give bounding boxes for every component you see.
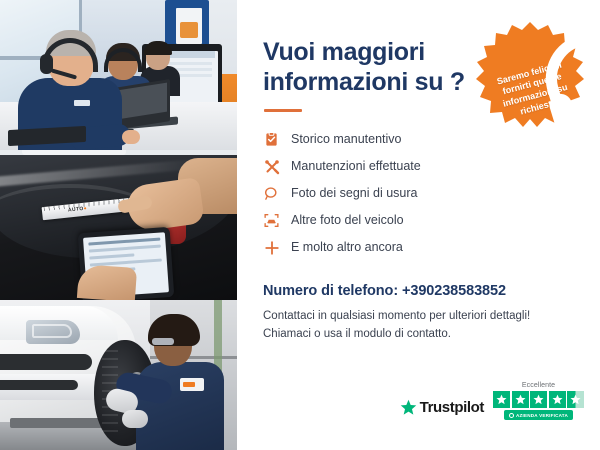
verified-badge: AZIENDA VERIFICATA bbox=[504, 410, 573, 420]
plus-icon bbox=[263, 239, 280, 256]
star-icon bbox=[549, 391, 566, 408]
feature-list: Storico manutentivo Manutenzioni effettu… bbox=[263, 126, 576, 261]
check-circle-icon bbox=[509, 413, 514, 418]
list-item-label: Storico manutentivo bbox=[291, 133, 401, 146]
verified-label: AZIENDA VERIFICATA bbox=[516, 413, 568, 418]
trustpilot-star-icon bbox=[400, 399, 417, 416]
list-item: Foto dei segni di usura bbox=[263, 180, 576, 207]
star-icon bbox=[512, 391, 529, 408]
list-item: Manutenzioni effettuate bbox=[263, 153, 576, 180]
phone-line: Numero di telefono: +390238583852 bbox=[263, 283, 576, 299]
list-item-label: E molto altro ancora bbox=[291, 241, 403, 254]
trustpilot-logo: Trustpilot bbox=[400, 399, 484, 420]
call-center-agents-photo bbox=[0, 0, 237, 150]
list-item: E molto altro ancora bbox=[263, 234, 576, 261]
trustpilot-wordmark: Trustpilot bbox=[420, 399, 484, 416]
tools-cross-icon bbox=[263, 158, 280, 175]
vehicle-bumper-inspection-photo: AUTO● bbox=[0, 150, 237, 300]
rating-label: Eccellente bbox=[522, 382, 555, 389]
phone-label: Numero di telefono: bbox=[263, 283, 402, 299]
contact-text: Contattaci in qualsiasi momento per ulte… bbox=[263, 308, 576, 344]
magnifier-icon bbox=[263, 185, 280, 202]
contact-line-2: Chiamaci o usa il modulo di contatto. bbox=[263, 326, 576, 344]
clipboard-check-icon bbox=[263, 131, 280, 148]
promo-banner: AUTO● bbox=[0, 0, 600, 450]
photo-collage: AUTO● bbox=[0, 0, 237, 450]
title-divider bbox=[264, 109, 302, 112]
mechanic-wheel-inspection-photo bbox=[0, 300, 237, 450]
trustpilot-widget[interactable]: Trustpilot Eccellente bbox=[400, 382, 584, 420]
list-item-label: Manutenzioni effettuate bbox=[291, 160, 421, 173]
car-frame-icon bbox=[263, 212, 280, 229]
content-panel: Vuoi maggiori informazioni su ? Saremo f… bbox=[237, 0, 600, 450]
list-item-label: Altre foto del veicolo bbox=[291, 214, 404, 227]
phone-number[interactable]: +390238583852 bbox=[402, 283, 506, 299]
trustpilot-rating: Eccellente bbox=[493, 382, 584, 420]
star-icon bbox=[493, 391, 510, 408]
callout-burst-badge: Saremo felici di fornirti queste informa… bbox=[474, 20, 586, 132]
list-item: Altre foto del veicolo bbox=[263, 207, 576, 234]
page-title: Vuoi maggiori informazioni su ? bbox=[263, 38, 475, 97]
star-rating bbox=[493, 391, 584, 408]
star-half-icon bbox=[567, 391, 584, 408]
star-icon bbox=[530, 391, 547, 408]
list-item-label: Foto dei segni di usura bbox=[291, 187, 417, 200]
contact-line-1: Contattaci in qualsiasi momento per ulte… bbox=[263, 308, 576, 326]
